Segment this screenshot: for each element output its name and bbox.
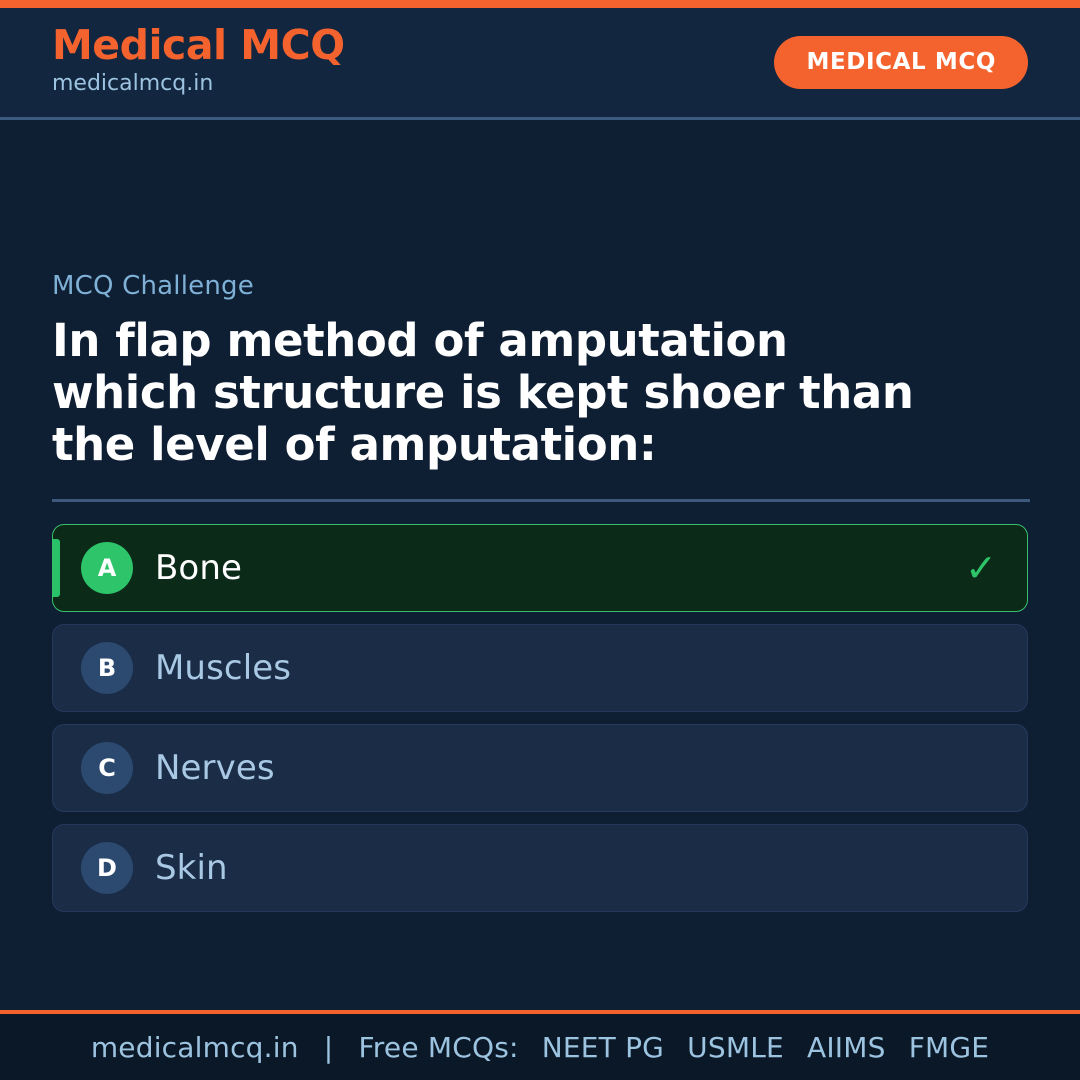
footer-tag-neet-pg: NEET PG — [542, 1031, 664, 1064]
option-d-letter: D — [81, 842, 133, 894]
option-c[interactable]: C Nerves — [52, 724, 1028, 812]
option-a-letter: A — [81, 542, 133, 594]
header-badge: MEDICAL MCQ — [774, 36, 1028, 89]
option-a-text: Bone — [155, 551, 242, 585]
footer-prefix: Free MCQs: — [359, 1031, 519, 1064]
correct-check-icon: ✓ — [965, 549, 997, 587]
option-b[interactable]: B Muscles — [52, 624, 1028, 712]
brand-block: Medical MCQ medicalmcq.in — [52, 24, 345, 99]
header: Medical MCQ medicalmcq.in MEDICAL MCQ — [0, 8, 1080, 120]
option-d[interactable]: D Skin — [52, 824, 1028, 912]
option-c-text: Nerves — [155, 751, 275, 785]
option-d-text: Skin — [155, 851, 228, 885]
option-b-text: Muscles — [155, 651, 291, 685]
body: MCQ Challenge In flap method of amputati… — [0, 120, 1080, 1010]
footer-tag-fmge: FMGE — [909, 1031, 989, 1064]
footer-text: medicalmcq.in | Free MCQs: NEET PG USMLE… — [91, 1031, 989, 1064]
footer-tag-usmle: USMLE — [687, 1031, 784, 1064]
eyebrow-label: MCQ Challenge — [52, 272, 1028, 301]
footer-separator: | — [324, 1031, 334, 1064]
question-divider — [52, 499, 1030, 502]
options-list: A Bone ✓ B Muscles C Nerves D Skin — [52, 524, 1028, 912]
mcq-card: Medical MCQ medicalmcq.in MEDICAL MCQ MC… — [0, 0, 1080, 1080]
question-block: MCQ Challenge In flap method of amputati… — [52, 272, 1028, 471]
brand-title: Medical MCQ — [52, 24, 345, 67]
footer: medicalmcq.in | Free MCQs: NEET PG USMLE… — [0, 1010, 1080, 1080]
top-accent-bar — [0, 0, 1080, 8]
option-c-letter: C — [81, 742, 133, 794]
option-b-letter: B — [81, 642, 133, 694]
footer-tag-aiims: AIIMS — [807, 1031, 886, 1064]
footer-site: medicalmcq.in — [91, 1031, 299, 1064]
brand-site: medicalmcq.in — [52, 70, 345, 99]
option-a[interactable]: A Bone ✓ — [52, 524, 1028, 612]
question-text: In flap method of amputation which struc… — [52, 315, 942, 472]
